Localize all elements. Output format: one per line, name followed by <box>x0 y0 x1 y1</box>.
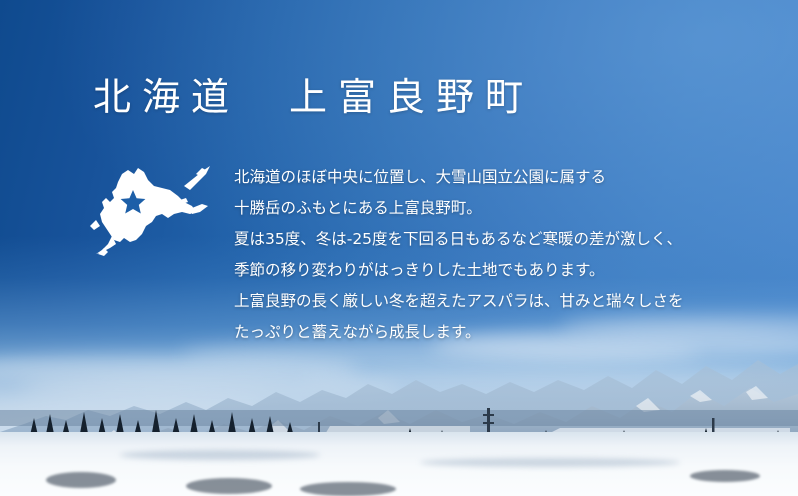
description-line: 季節の移り変わりがはっきりした土地でもあります。 <box>234 255 774 286</box>
page-title: 北海道 上富良野町 <box>93 78 534 116</box>
description-line: 上富良野の長く厳しい冬を超えたアスパラは、甘みと瑞々しさを <box>234 286 774 317</box>
description-line: 十勝岳のふもとにある上富良野町。 <box>234 193 774 224</box>
banner-content: 北海道 上富良野町 北海道のほぼ中央に位置し、大雪山国立 <box>0 0 798 496</box>
hokkaido-map-icon <box>88 156 214 260</box>
description-line: たっぷりと蓄えながら成長します。 <box>234 317 774 348</box>
description-line: 夏は35度、冬は-25度を下回る日もあるなど寒暖の差が激しく、 <box>234 224 774 255</box>
hokkaido-kamifurano-banner: 北海道 上富良野町 北海道のほぼ中央に位置し、大雪山国立 <box>0 0 798 496</box>
description-block: 北海道のほぼ中央に位置し、大雪山国立公園に属する 十勝岳のふもとにある上富良野町… <box>234 162 774 348</box>
description-line: 北海道のほぼ中央に位置し、大雪山国立公園に属する <box>234 162 774 193</box>
